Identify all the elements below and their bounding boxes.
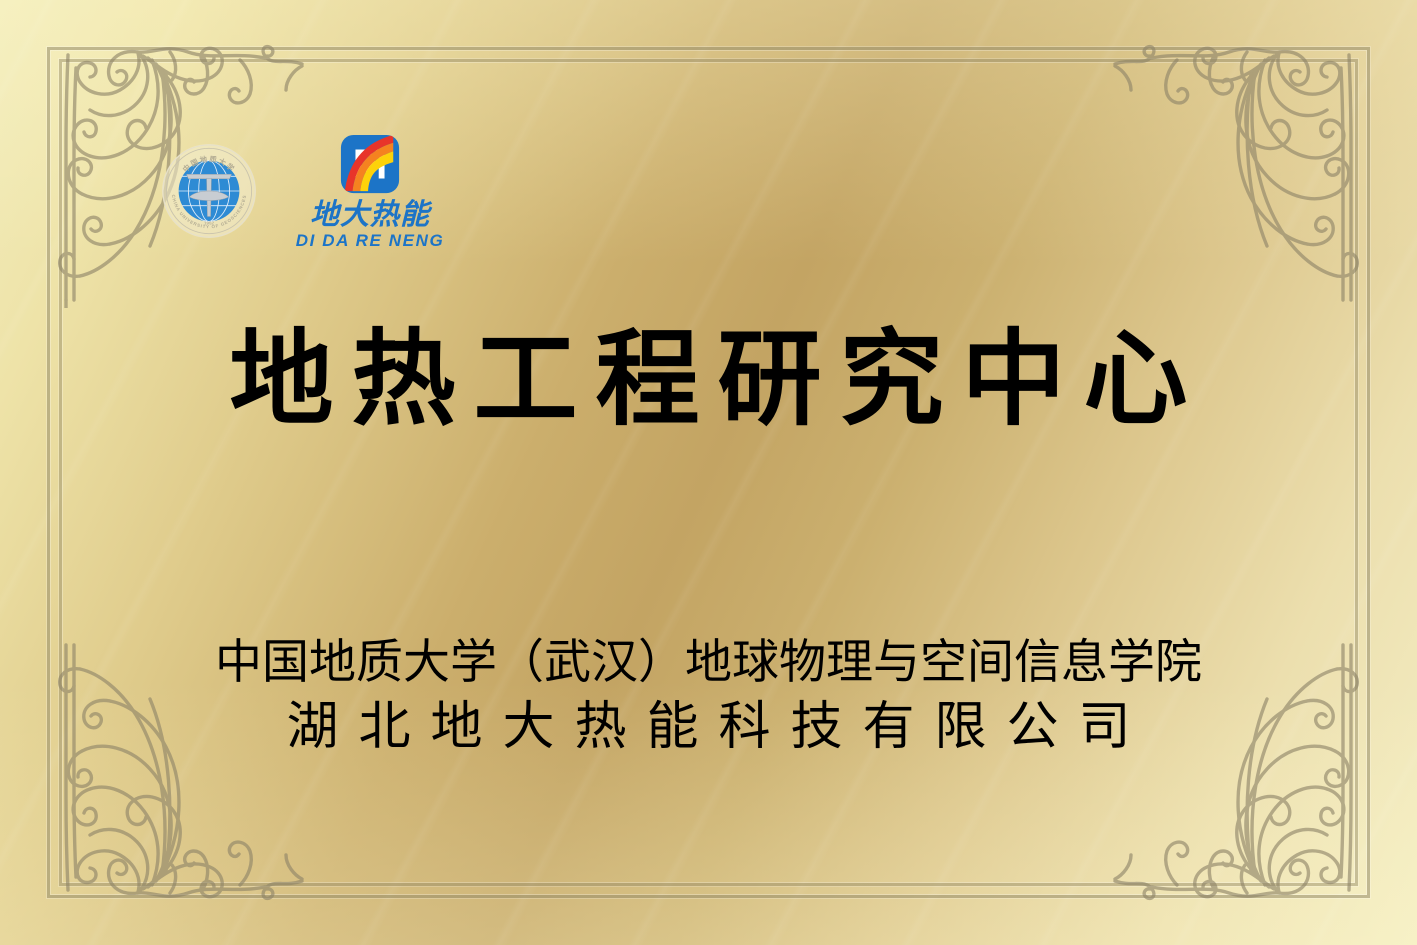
organization-line-company: 湖北地大热能科技有限公司 [0, 695, 1417, 760]
logo-group: 1952 中国地质大学 CHINA UNIVERSITY OF GEOSCIEN… [160, 133, 460, 249]
company-name-cn-icon: 地大热能 [280, 198, 460, 230]
china-university-of-geosciences-seal-icon: 1952 中国地质大学 CHINA UNIVERSITY OF GEOSCIEN… [160, 142, 258, 240]
organization-lines: 中国地质大学（武汉）地球物理与空间信息学院 湖北地大热能科技有限公司 [0, 636, 1417, 760]
didareneng-logo-mark-icon [339, 133, 401, 195]
company-name-pinyin: DI DA RE NENG [296, 232, 445, 249]
svg-text:地大热能: 地大热能 [310, 198, 433, 230]
page-title: 地热工程研究中心 [0, 325, 1417, 434]
company-logo: 地大热能 DI DA RE NENG [280, 133, 460, 249]
corner-flourish-ornament-icon [1107, 8, 1407, 308]
award-plaque: 1952 中国地质大学 CHINA UNIVERSITY OF GEOSCIEN… [0, 0, 1417, 945]
organization-line-college: 中国地质大学（武汉）地球物理与空间信息学院 [0, 636, 1417, 691]
